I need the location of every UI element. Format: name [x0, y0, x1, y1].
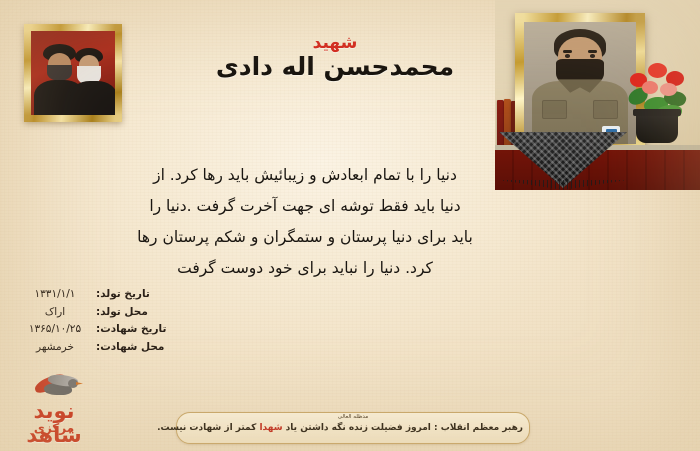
quote-line: باید برای دنیا پرستان و ستمگران و شکم پر… [120, 222, 490, 253]
navid-shahed-logo: نوید شاهد مرکزی [4, 375, 100, 445]
beak-shape [76, 382, 83, 385]
info-row-martyrdom-place: محل شهادت: خرمشهر [14, 339, 174, 357]
flower-shape [642, 81, 658, 94]
quote-suffix: کمتر از شهادت نیست. [157, 423, 259, 433]
shahid-label: شهید [0, 33, 685, 53]
martyr-quote: دنیا را با تمام ابعادش و زیبائیش باید ره… [120, 160, 490, 284]
pocket-shape [593, 100, 619, 119]
leader-honorific: مدظله العالی [177, 414, 529, 420]
info-row-martyrdom-date: تاریخ شهادت: ۱۳۶۵/۱۰/۲۵ [14, 321, 174, 339]
info-label: تاریخ شهادت: [96, 321, 174, 339]
info-value: اراک [14, 304, 96, 322]
quote-highlight: شهدا [259, 423, 282, 433]
pocket-shape [542, 100, 568, 119]
leader-quote-text: رهبر معظم انقلاب : امروز فضیلت زنده نگه … [183, 423, 523, 433]
martyr-scene [495, 0, 700, 190]
info-value: ۱۳۳۱/۱/۱ [14, 286, 96, 304]
info-value: ۱۳۶۵/۱۰/۲۵ [14, 321, 96, 339]
logo-subtitle: مرکزی [10, 421, 98, 435]
info-label: تاریخ تولد: [96, 286, 174, 304]
quote-line: دنیا باید فقط توشه ای جهت آخرت گرفت .دنی… [120, 191, 490, 222]
martyr-info-block: تاریخ تولد: ۱۳۳۱/۱/۱ محل تولد: اراک تاری… [14, 286, 174, 356]
info-row-birth-date: تاریخ تولد: ۱۳۳۱/۱/۱ [14, 286, 174, 304]
flower-shape [660, 83, 677, 96]
info-label: محل تولد: [96, 304, 174, 322]
leader-quote-banner: مدظله العالی رهبر معظم انقلاب : امروز فض… [176, 412, 530, 444]
info-label: محل شهادت: [96, 339, 174, 357]
quote-prefix: رهبر معظم انقلاب : امروز فضیلت زنده نگه … [283, 423, 523, 433]
quote-line: دنیا را با تمام ابعادش و زیبائیش باید ره… [120, 160, 490, 191]
memorial-poster: شهید محمدحسن اله دادی دنیا را با تمام اب… [0, 0, 700, 451]
quote-line: کرد. دنیا را نباید برای خود دوست گرفت [120, 253, 490, 284]
info-value: خرمشهر [14, 339, 96, 357]
robe-shape [70, 81, 117, 116]
flower-pot [636, 113, 678, 143]
martyr-name: محمدحسن اله دادی [0, 52, 685, 81]
info-row-birth-place: محل تولد: اراک [14, 304, 174, 322]
